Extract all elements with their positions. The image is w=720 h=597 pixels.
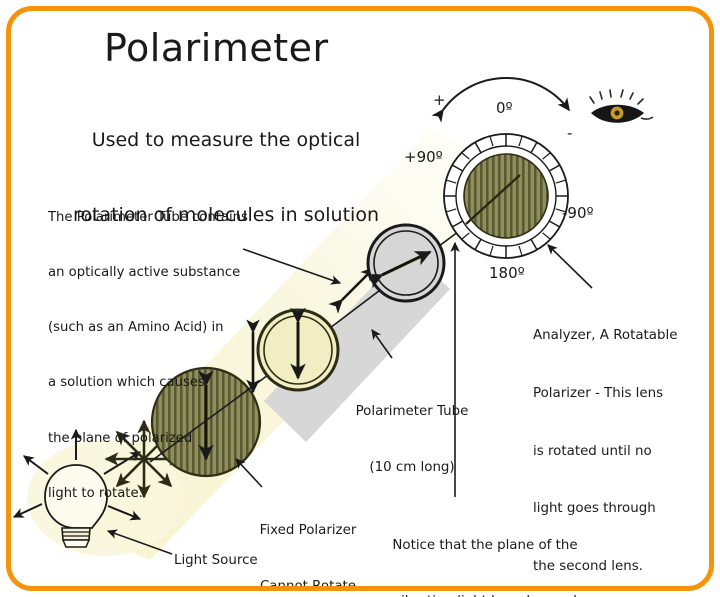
subtitle-line-1: Used to measure the optical: [66, 128, 386, 153]
dial-label-0: 0º: [496, 99, 513, 117]
tube-desc-line-6: light to rotate.: [48, 485, 248, 503]
light-source-label: Light Source: [174, 552, 258, 570]
analyzer-desc-line-2: Polarizer - This lens: [533, 384, 691, 403]
rotation-sign-positive: +: [433, 91, 446, 109]
tube-desc-line-2: an optically active substance: [48, 264, 248, 282]
polarimeter-figure: Polarimeter Used to measure the optical …: [0, 0, 720, 597]
dial-label-plus-90: +90º: [404, 148, 443, 166]
tube-desc-line-3: (such as an Amino Acid) in: [48, 319, 248, 337]
fixed-pol-line-1: Fixed Polarizer: [243, 522, 373, 541]
fixed-polarizer-label: Fixed Polarizer Cannot Rotate: [243, 485, 373, 597]
plane-note-line-2: vibrating light has changed: [375, 593, 595, 597]
dial-label-minus-90: -90º: [562, 204, 594, 222]
tube-desc-line-1: The Polarimeter Tube contains: [48, 209, 248, 227]
rotation-sign-negative: -: [567, 124, 572, 142]
tube-desc-line-5: the plane of polarized: [48, 430, 248, 448]
tube-label-line-1: Polarimeter Tube: [337, 403, 487, 422]
analyzer-desc-line-3: is rotated until no: [533, 442, 691, 461]
tube-desc-line-4: a solution which causes: [48, 374, 248, 392]
analyzer-desc-line-1: Analyzer, A Rotatable: [533, 326, 691, 345]
plane-note-line-1: Notice that the plane of the: [375, 537, 595, 556]
polarimeter-tube-description: The Polarimeter Tube contains an optical…: [48, 172, 248, 540]
page-title: Polarimeter: [104, 26, 329, 70]
fixed-pol-line-2: Cannot Rotate: [243, 578, 373, 597]
tube-label-line-2: (10 cm long): [337, 459, 487, 478]
dial-label-180: 180º: [489, 264, 525, 282]
